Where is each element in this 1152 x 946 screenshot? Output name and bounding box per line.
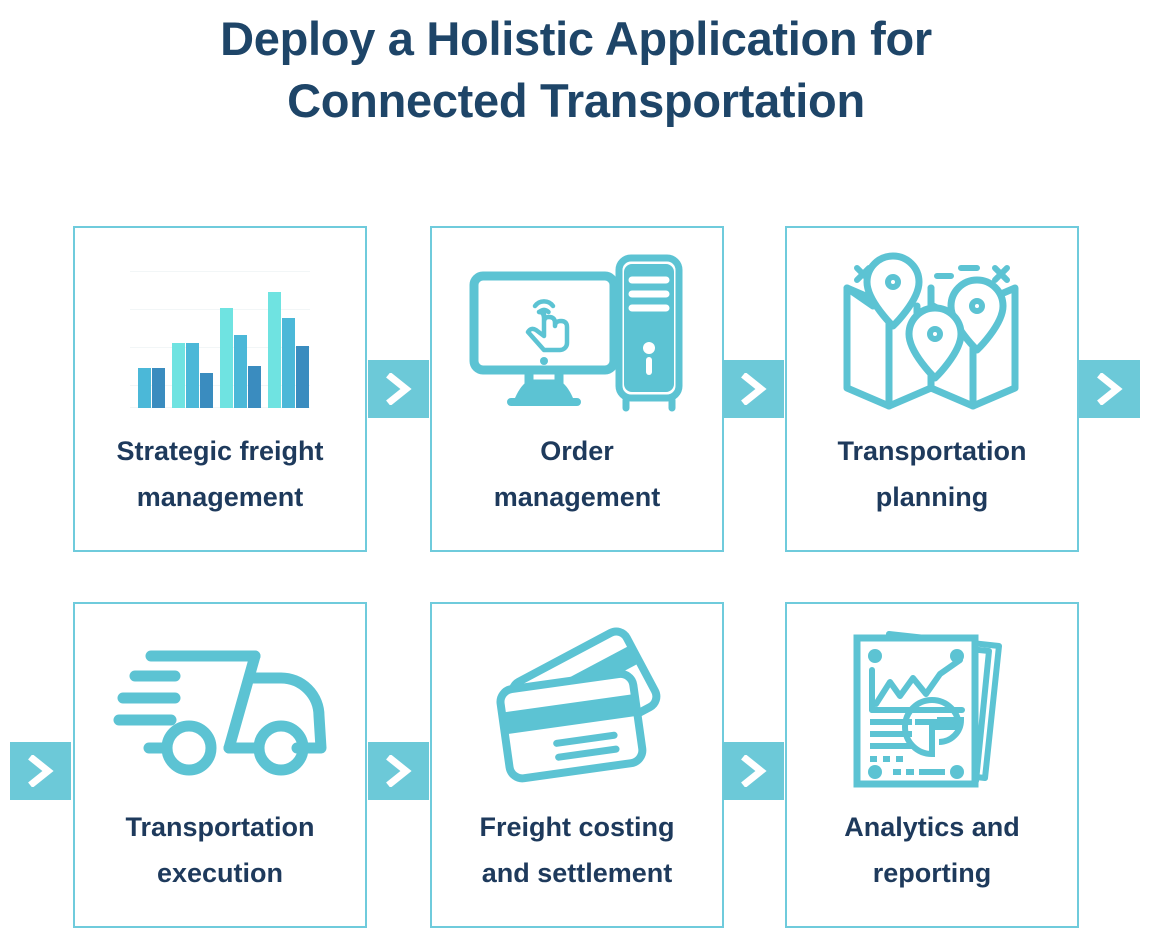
delivery-truck-icon (75, 604, 365, 804)
flow-card-order-management[interactable]: Order management (430, 226, 724, 552)
flow-card-label-line-2: management (81, 474, 359, 520)
flow-card-label-line-1: Transportation (793, 428, 1071, 474)
map-with-pins-icon (787, 228, 1077, 428)
chevron-right-icon (739, 373, 769, 405)
flow-card-label-line-1: Order (438, 428, 716, 474)
flow-card-label-line-2: execution (81, 850, 359, 896)
flow-arrow-wrap-into-4 (10, 742, 71, 800)
flow-card-label-line-1: Analytics and (793, 804, 1071, 850)
flow-card-label-line-2: and settlement (438, 850, 716, 896)
chevron-right-icon (739, 755, 769, 787)
flow-card-label-line-2: management (438, 474, 716, 520)
bar-chart-icon (75, 228, 365, 428)
flow-card-label: Strategic freight management (75, 428, 365, 520)
flow-card-label-line-1: Strategic freight (81, 428, 359, 474)
chevron-right-icon (384, 373, 414, 405)
flow-card-label: Transportation execution (75, 804, 365, 896)
desktop-computer-click-icon (432, 228, 722, 428)
credit-cards-icon (432, 604, 722, 804)
flow-card-label: Transportation planning (787, 428, 1077, 520)
flow-card-transportation-planning[interactable]: Transportation planning (785, 226, 1079, 552)
flow-card-analytics-and-reporting[interactable]: Analytics and reporting (785, 602, 1079, 928)
flow-card-label-line-2: planning (793, 474, 1071, 520)
flow-card-label: Analytics and reporting (787, 804, 1077, 896)
flow-card-label: Freight costing and settlement (432, 804, 722, 896)
flow-arrow-4-to-5 (368, 742, 429, 800)
chevron-right-icon (1095, 373, 1125, 405)
flow-arrow-1-to-2 (368, 360, 429, 418)
process-flow-diagram: Strategic freight management (0, 0, 1152, 946)
flow-card-transportation-execution[interactable]: Transportation execution (73, 602, 367, 928)
flow-card-label-line-1: Transportation (81, 804, 359, 850)
flow-arrow-2-to-3 (723, 360, 784, 418)
chevron-right-icon (384, 755, 414, 787)
flow-arrow-5-to-6 (723, 742, 784, 800)
flow-card-label-line-2: reporting (793, 850, 1071, 896)
chevron-right-icon (26, 755, 56, 787)
flow-arrow-3-to-wrap (1079, 360, 1140, 418)
flow-card-strategic-freight-management[interactable]: Strategic freight management (73, 226, 367, 552)
flow-card-label: Order management (432, 428, 722, 520)
flow-card-freight-costing-and-settlement[interactable]: Freight costing and settlement (430, 602, 724, 928)
report-documents-icon (787, 604, 1077, 804)
flow-card-label-line-1: Freight costing (438, 804, 716, 850)
